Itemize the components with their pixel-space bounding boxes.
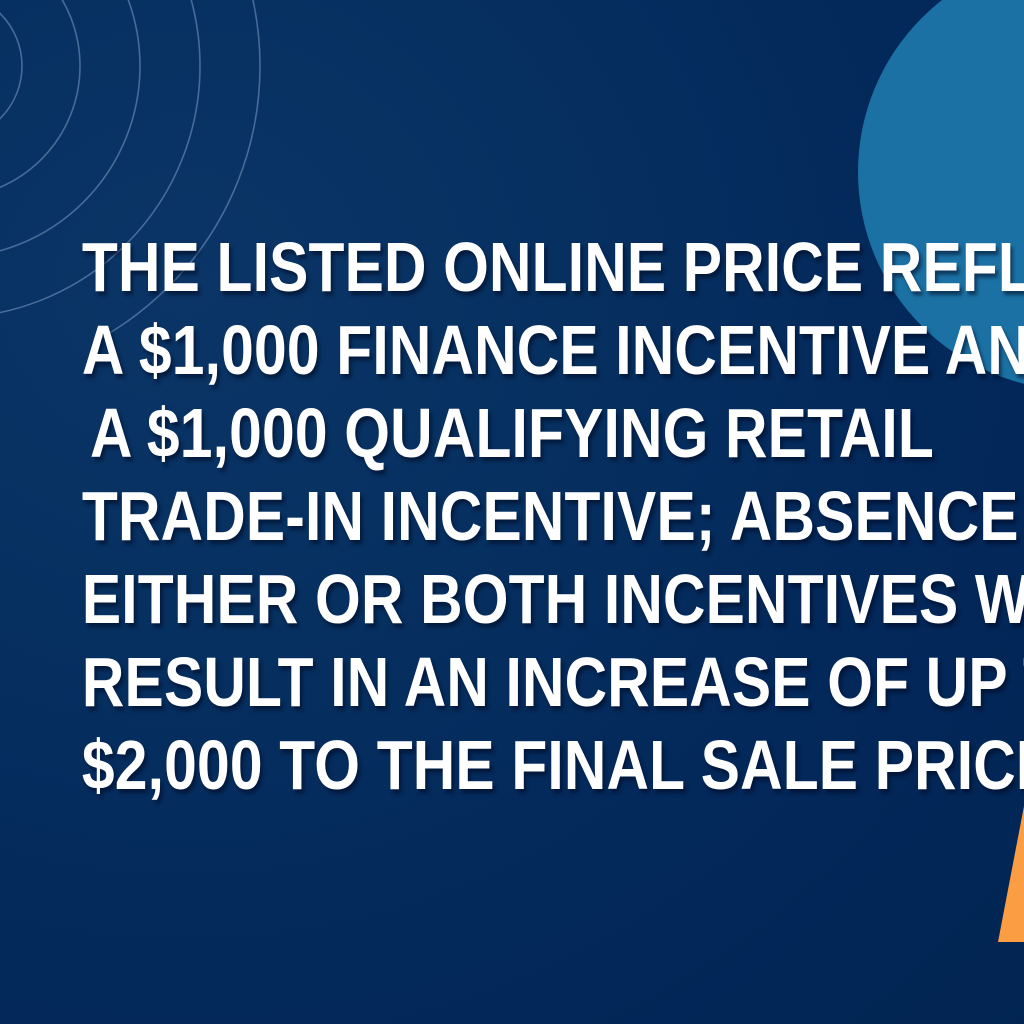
disclaimer-line-2: A $1,000 FINANCE INCENTIVE AND	[82, 309, 942, 392]
disclaimer-line-1: THE LISTED ONLINE PRICE REFLECTS	[82, 226, 942, 309]
disclaimer-line-4: TRADE-IN INCENTIVE; ABSENCE OF	[82, 475, 942, 558]
disclaimer-line-6: RESULT IN AN INCREASE OF UP TO	[82, 641, 942, 724]
disclaimer-text-block: THE LISTED ONLINE PRICE REFLECTS A $1,00…	[0, 0, 1024, 1024]
disclaimer-line-3: A $1,000 QUALIFYING RETAIL	[82, 392, 942, 475]
disclaimer-line-5: EITHER OR BOTH INCENTIVES WILL	[82, 558, 942, 641]
promo-disclaimer-card: THE LISTED ONLINE PRICE REFLECTS A $1,00…	[0, 0, 1024, 1024]
disclaimer-line-7: $2,000 TO THE FINAL SALE PRICE.	[82, 724, 942, 807]
